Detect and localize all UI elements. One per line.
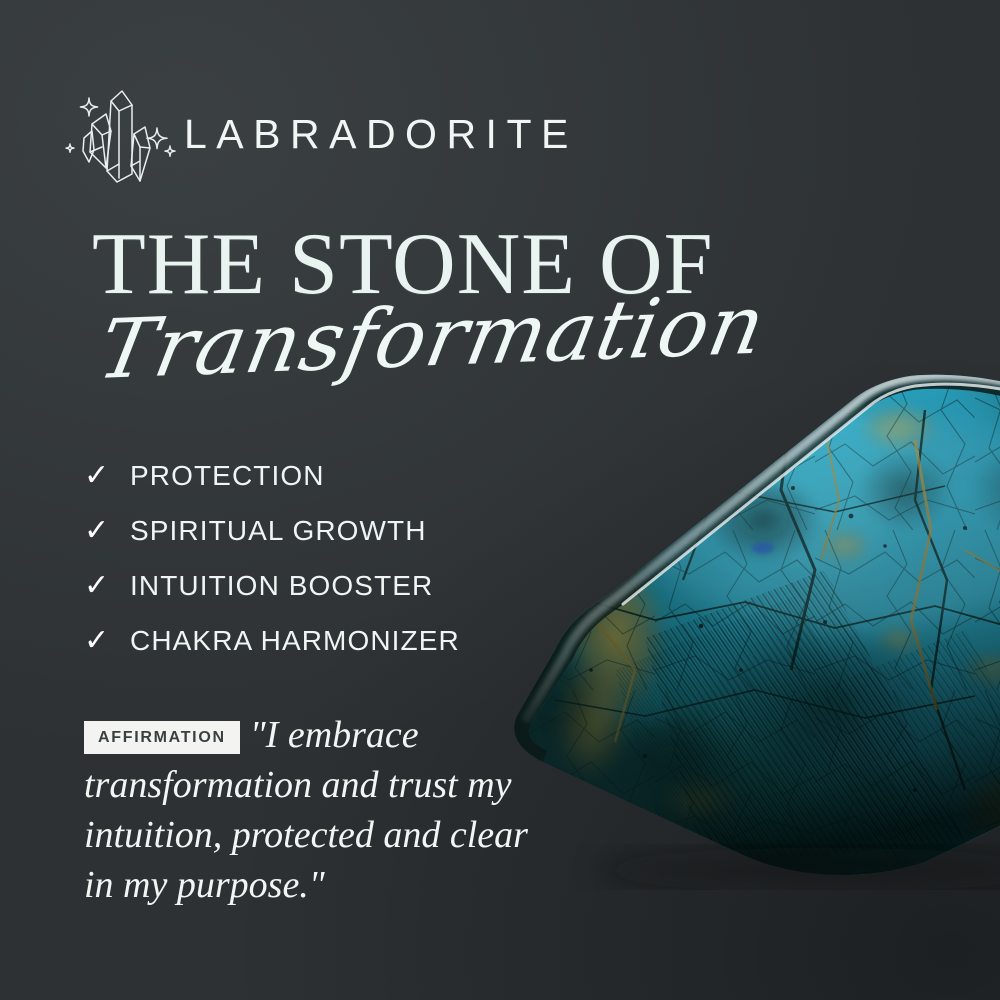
benefits-list: ✓ PROTECTION ✓ SPIRITUAL GROWTH ✓ INTUIT… — [84, 448, 544, 668]
brand-name: LABRADORITE — [184, 114, 578, 155]
affirmation-badge: AFFIRMATION — [84, 721, 240, 754]
check-icon: ✓ — [84, 461, 130, 491]
check-icon: ✓ — [84, 571, 130, 601]
benefit-label: PROTECTION — [130, 460, 325, 492]
benefit-label: SPIRITUAL GROWTH — [130, 515, 427, 547]
sparkle-icon — [80, 98, 97, 116]
labradorite-poster: LABRADORITE THE STONE OF Transformation … — [0, 0, 1000, 1000]
affirmation-block: AFFIRMATION"I embrace transformation and… — [84, 710, 554, 911]
labradorite-stone-image — [495, 370, 1000, 890]
stone-graphic — [495, 370, 1000, 890]
benefit-item: ✓ SPIRITUAL GROWTH — [84, 503, 544, 558]
benefit-item: ✓ CHAKRA HARMONIZER — [84, 613, 544, 668]
check-icon: ✓ — [84, 516, 130, 546]
brand-lockup: LABRADORITE — [62, 78, 578, 190]
benefit-label: CHAKRA HARMONIZER — [130, 625, 460, 657]
sparkle-icon — [165, 146, 175, 156]
headline-block: THE STONE OF Transformation — [92, 222, 852, 402]
headline-script-wrap: Transformation — [92, 306, 852, 402]
check-icon: ✓ — [84, 626, 130, 656]
benefit-item: ✓ PROTECTION — [84, 448, 544, 503]
benefit-item: ✓ INTUITION BOOSTER — [84, 558, 544, 613]
sparkle-icon — [66, 144, 74, 152]
benefit-label: INTUITION BOOSTER — [130, 570, 433, 602]
crystal-cluster-icon — [62, 78, 180, 190]
